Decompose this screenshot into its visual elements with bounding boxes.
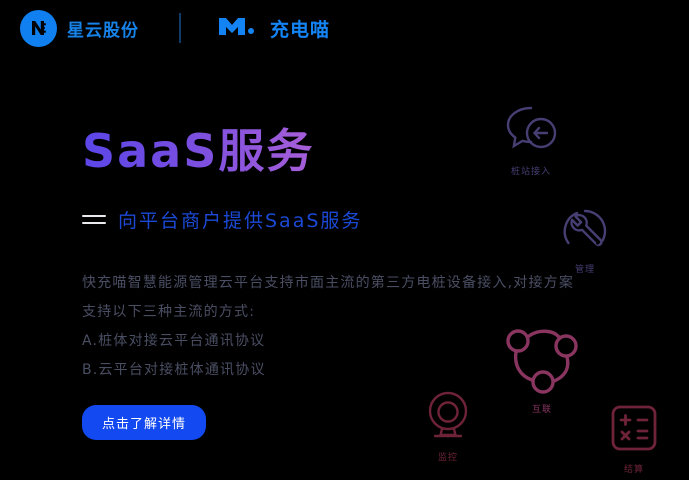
brand-primary-name: 星云股份 [67, 16, 139, 41]
hero-body: 快充喵智慧能源管理云平台支持市面主流的第三方电桩设备接入,对接方案支持以下三种主… [82, 269, 582, 385]
body-paragraph: B.云平台对接桩体通讯协议 [82, 356, 582, 385]
hero-subtitle-row: 向平台商户提供SaaS服务 [82, 206, 602, 233]
page-root: 星云股份 充电喵 SaaS服务 向平台商户提供SaaS服务 快充喵智慧能源管理云… [0, 0, 689, 480]
cat-face-logo-icon [217, 15, 261, 41]
hero-subtitle: 向平台商户提供SaaS服务 [118, 206, 362, 233]
body-paragraph: A.桩体对接云平台通讯协议 [82, 327, 582, 356]
learn-more-button[interactable]: 点击了解详情 [82, 405, 206, 440]
header-divider [179, 13, 181, 43]
calculator-icon [608, 402, 660, 458]
page-title: SaaS服务 [82, 124, 602, 178]
brand-primary[interactable]: 星云股份 [20, 10, 139, 47]
page-header: 星云股份 充电喵 [0, 0, 689, 56]
decoration-label: 监控 [438, 450, 458, 463]
brand-secondary[interactable]: 充电喵 [217, 15, 330, 42]
hero-section: SaaS服务 向平台商户提供SaaS服务 快充喵智慧能源管理云平台支持市面主流的… [82, 124, 602, 440]
ne-monogram-logo-icon [20, 10, 57, 47]
menu-bars-icon [82, 215, 106, 224]
decoration-label: 结算 [624, 462, 644, 475]
body-paragraph: 快充喵智慧能源管理云平台支持市面主流的第三方电桩设备接入,对接方案支持以下三种主… [82, 269, 582, 327]
decoration-settlement: 结算 [608, 402, 660, 475]
brand-secondary-name: 充电喵 [270, 15, 330, 42]
